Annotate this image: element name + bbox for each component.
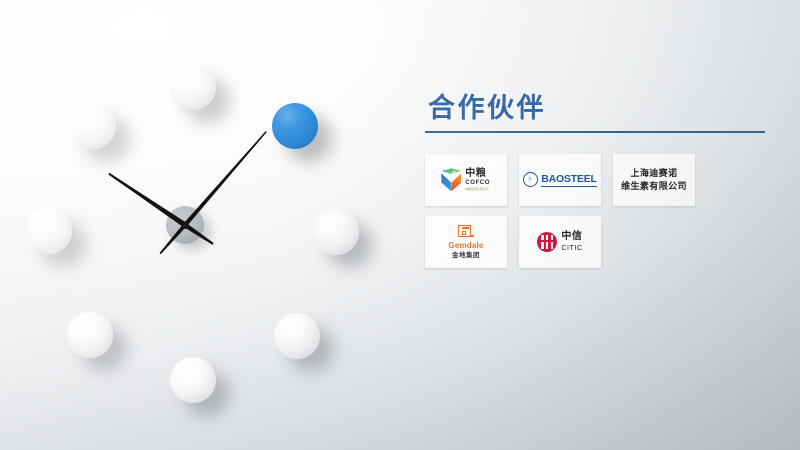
clock-marker-7 [67, 312, 113, 358]
clock-marker-10 [70, 103, 116, 149]
baosteel-logo: BAOSTEEL [523, 172, 597, 187]
gemdale-square-icon [458, 225, 473, 239]
cofco-name-en: COFCO [465, 180, 491, 186]
cofco-wordmark: 中粮 COFCO 中粮集团有限公司 [465, 169, 491, 191]
baosteel-circle-icon [523, 172, 538, 187]
clock-center-pin [182, 222, 189, 229]
cofco-cube-icon [440, 168, 462, 191]
citic-logo: 中信 CITIC [537, 232, 582, 252]
citic-wordmark: 中信 CITIC [561, 232, 582, 252]
partner-card-shanghai-desano[interactable]: 上海迪赛诺 维生素有限公司 [613, 154, 695, 206]
clock-marker-2 [313, 209, 359, 255]
clock-marker-1-highlight [272, 103, 318, 149]
clock-marker-4 [274, 313, 320, 359]
wall-clock-illustration [0, 0, 400, 450]
slide-canvas: 合作伙伴 中粮 COFCO 中粮集团有限公司 [0, 0, 800, 450]
partner-card-citic[interactable]: 中信 CITIC [519, 216, 601, 268]
clock-marker-8 [26, 208, 72, 254]
desano-name-line1: 上海迪赛诺 [621, 167, 687, 180]
desano-wordmark: 上海迪赛诺 维生素有限公司 [621, 167, 687, 193]
gemdale-name-cn: 金地集团 [452, 253, 480, 260]
partner-card-cofco[interactable]: 中粮 COFCO 中粮集团有限公司 [425, 154, 507, 206]
partner-card-baosteel[interactable]: BAOSTEEL [519, 154, 601, 206]
page-title: 合作伙伴 [425, 92, 775, 126]
citic-name-cn: 中信 [561, 232, 582, 242]
partner-logo-grid: 中粮 COFCO 中粮集团有限公司 BAOSTEEL 上海迪赛诺 维生素有限公司 [425, 154, 775, 268]
partner-card-gemdale[interactable]: Gemdale 金地集团 [425, 216, 507, 268]
partners-panel: 合作伙伴 中粮 COFCO 中粮集团有限公司 [425, 92, 775, 268]
clock-marker-12 [170, 64, 216, 110]
title-underline-rule [425, 131, 765, 133]
cofco-name-cn: 中粮 [465, 169, 491, 179]
citic-seal-icon [537, 232, 557, 252]
citic-name-en: CITIC [561, 245, 582, 252]
desano-name-line2: 维生素有限公司 [621, 180, 687, 193]
gemdale-logo: Gemdale 金地集团 [448, 225, 483, 260]
gemdale-name-en: Gemdale [448, 242, 483, 250]
clock-marker-5 [170, 357, 216, 403]
baosteel-name-en: BAOSTEEL [541, 173, 597, 187]
cofco-logo: 中粮 COFCO 中粮集团有限公司 [440, 168, 491, 191]
cofco-tagline: 中粮集团有限公司 [465, 188, 489, 191]
